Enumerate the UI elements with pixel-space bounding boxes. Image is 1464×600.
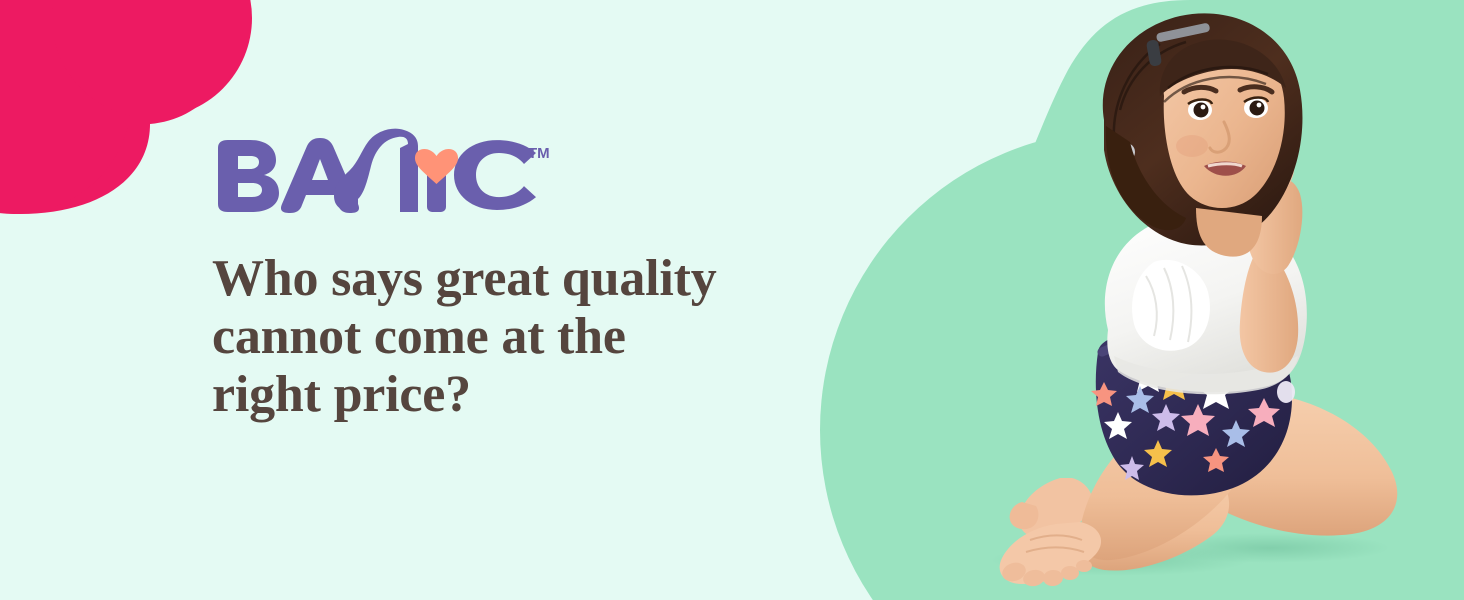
logo-letter-b	[218, 140, 279, 212]
brand-logo-mark: TM	[212, 128, 552, 214]
heart-icon	[415, 149, 458, 184]
brand-logo[interactable]: TM	[212, 128, 552, 214]
logo-letter-c	[454, 140, 536, 210]
promo-banner: TM Who says great quality cannot come at…	[0, 0, 1464, 600]
page-title: Who says great quality cannot come at th…	[212, 250, 832, 425]
headline-line-2: cannot come at the	[212, 308, 832, 366]
headline-line-3: right price?	[212, 366, 832, 424]
logo-letter-s	[334, 129, 418, 212]
trademark-symbol: TM	[528, 145, 550, 162]
headline-line-1: Who says great quality	[212, 250, 832, 308]
content-column: TM Who says great quality cannot come at…	[212, 128, 852, 425]
